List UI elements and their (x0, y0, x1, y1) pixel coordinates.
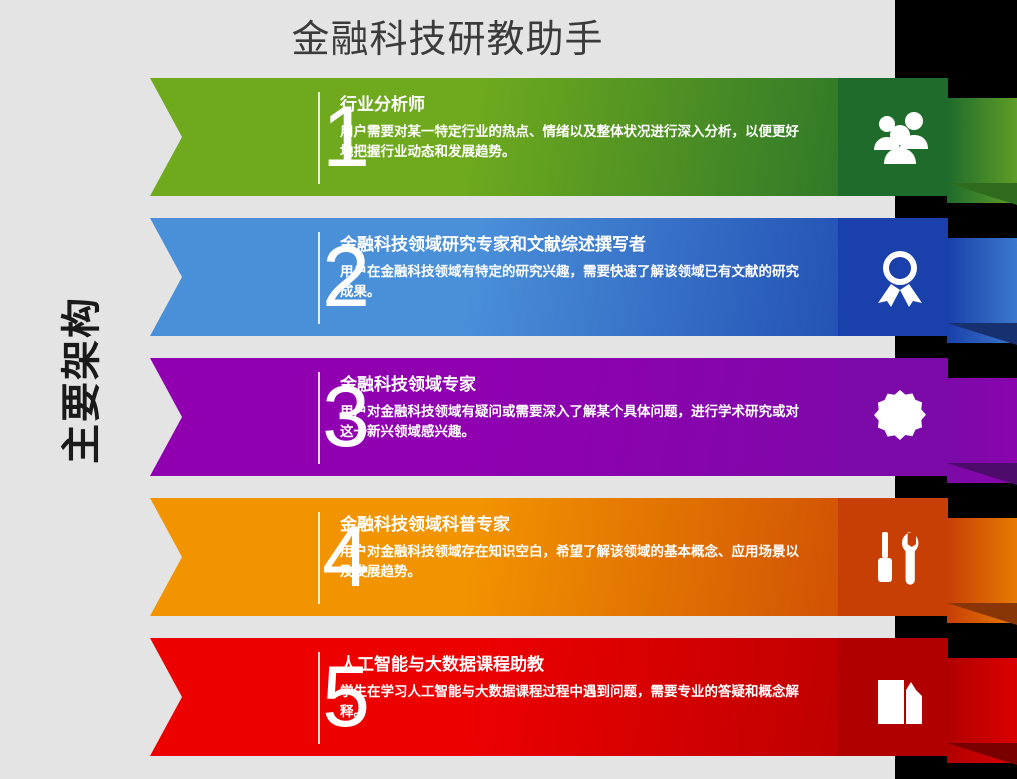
row-description: 用户在金融科技领域有特定的研究兴趣，需要快速了解该领域已有文献的研究成果。 (340, 262, 810, 301)
row-title: 行业分析师 (340, 94, 810, 116)
award-ribbon-icon (870, 248, 930, 308)
people-group-icon (870, 108, 930, 168)
side-label: 主要架构 (18, 320, 138, 440)
vertical-divider (318, 652, 320, 744)
verified-badge-icon (870, 388, 930, 448)
vertical-divider (318, 512, 320, 604)
row-description: 用户需要对某一特定行业的热点、情绪以及整体状况进行深入分析，以便更好地把握行业动… (340, 122, 810, 161)
row-description: 用户对金融科技领域有疑问或需要深入了解某个具体问题，进行学术研究或对这一新兴领域… (340, 402, 810, 441)
row-title: 金融科技领域专家 (340, 374, 810, 396)
banner-text: 人工智能与大数据课程助教 学生在学习人工智能与大数据课程过程中遇到问题，需要专业… (340, 654, 810, 721)
row-title: 人工智能与大数据课程助教 (340, 654, 810, 676)
vertical-divider (318, 92, 320, 184)
banner-text: 行业分析师 用户需要对某一特定行业的热点、情绪以及整体状况进行深入分析，以便更好… (340, 94, 810, 161)
banner-row[interactable]: 5 人工智能与大数据课程助教 学生在学习人工智能与大数据课程过程中遇到问题，需要… (150, 638, 1016, 763)
banner-row[interactable]: 3 金融科技领域专家 用户对金融科技领域有疑问或需要深入了解某个具体问题，进行学… (150, 358, 1016, 483)
banner-row[interactable]: 4 金融科技领域科普专家 用户对金融科技领域存在知识空白，希望了解该领域的基本概… (150, 498, 1016, 623)
buildings-icon (870, 668, 930, 728)
vertical-divider (318, 372, 320, 464)
banner-body[interactable]: 3 金融科技领域专家 用户对金融科技领域有疑问或需要深入了解某个具体问题，进行学… (150, 358, 948, 476)
infographic-canvas: 金融科技研教助手 主要架构 1 行业分析师 用户需要对某一特定行业的热点、情绪以… (0, 0, 1017, 779)
tools-icon (870, 528, 930, 588)
row-description: 用户对金融科技领域存在知识空白，希望了解该领域的基本概念、应用场景以及发展趋势。 (340, 542, 810, 581)
banner-row[interactable]: 1 行业分析师 用户需要对某一特定行业的热点、情绪以及整体状况进行深入分析，以便… (150, 78, 1016, 203)
row-description: 学生在学习人工智能与大数据课程过程中遇到问题，需要专业的答疑和概念解释。 (340, 682, 810, 721)
page-title: 金融科技研教助手 (0, 8, 895, 63)
banner-body[interactable]: 1 行业分析师 用户需要对某一特定行业的热点、情绪以及整体状况进行深入分析，以便… (150, 78, 948, 196)
row-title: 金融科技领域研究专家和文献综述撰写者 (340, 234, 810, 256)
banner-text: 金融科技领域科普专家 用户对金融科技领域存在知识空白，希望了解该领域的基本概念、… (340, 514, 810, 581)
banner-text: 金融科技领域研究专家和文献综述撰写者 用户在金融科技领域有特定的研究兴趣，需要快… (340, 234, 810, 301)
banner-text: 金融科技领域专家 用户对金融科技领域有疑问或需要深入了解某个具体问题，进行学术研… (340, 374, 810, 441)
banner-body[interactable]: 2 金融科技领域研究专家和文献综述撰写者 用户在金融科技领域有特定的研究兴趣，需… (150, 218, 948, 336)
banner-row[interactable]: 2 金融科技领域研究专家和文献综述撰写者 用户在金融科技领域有特定的研究兴趣，需… (150, 218, 1016, 343)
vertical-divider (318, 232, 320, 324)
row-title: 金融科技领域科普专家 (340, 514, 810, 536)
banner-body[interactable]: 5 人工智能与大数据课程助教 学生在学习人工智能与大数据课程过程中遇到问题，需要… (150, 638, 948, 756)
banner-body[interactable]: 4 金融科技领域科普专家 用户对金融科技领域存在知识空白，希望了解该领域的基本概… (150, 498, 948, 616)
